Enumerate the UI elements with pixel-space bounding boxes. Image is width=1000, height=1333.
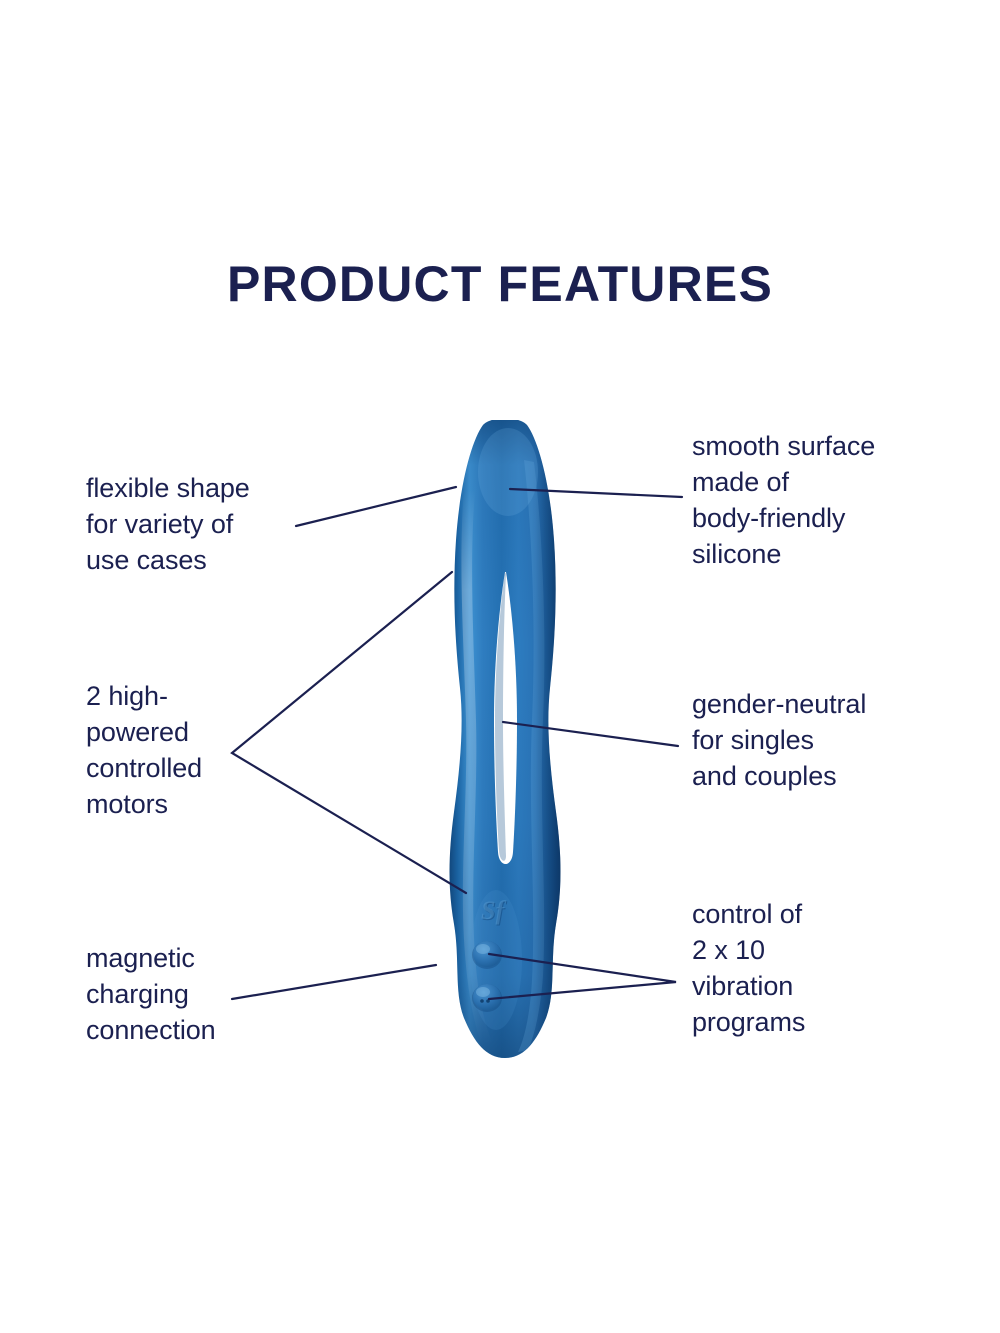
page-title: PRODUCT FEATURES: [0, 258, 1000, 311]
callout-smooth-surface: smooth surface made of body-friendly sil…: [692, 428, 875, 572]
callout-line: 2 high-: [86, 678, 202, 714]
product-illustration: Sf Sf: [420, 420, 590, 1065]
callout-line: and couples: [692, 758, 866, 794]
callout-line: programs: [692, 1004, 805, 1040]
callout-line: use cases: [86, 542, 250, 578]
callout-line: 2 x 10: [692, 932, 805, 968]
product-features-infographic: PRODUCT FEATURES: [0, 0, 1000, 1333]
callout-gender-neutral: gender-neutral for singles and couples: [692, 686, 866, 794]
callout-line: for singles: [692, 722, 866, 758]
callout-line: motors: [86, 786, 202, 822]
callout-line: flexible shape: [86, 470, 250, 506]
callout-line: control of: [692, 896, 805, 932]
callout-line: gender-neutral: [692, 686, 866, 722]
callout-line: controlled: [86, 750, 202, 786]
callout-line: silicone: [692, 536, 875, 572]
leader-line-magnetic-charging: [232, 965, 436, 999]
callout-line: body-friendly: [692, 500, 875, 536]
callout-high-powered-motors: 2 high- powered controlled motors: [86, 678, 202, 822]
callout-line: vibration: [692, 968, 805, 1004]
brand-logo: Sf Sf: [481, 896, 507, 926]
callout-vibration-programs: control of 2 x 10 vibration programs: [692, 896, 805, 1040]
callout-line: powered: [86, 714, 202, 750]
callout-line: magnetic: [86, 940, 216, 976]
callout-line: made of: [692, 464, 875, 500]
product-image: Sf Sf: [420, 420, 590, 1065]
callout-line: connection: [86, 1012, 216, 1048]
callout-line: smooth surface: [692, 428, 875, 464]
callout-magnetic-charging: magnetic charging connection: [86, 940, 216, 1048]
callout-flexible-shape: flexible shape for variety of use cases: [86, 470, 250, 578]
svg-text:Sf: Sf: [481, 896, 506, 925]
callout-line: for variety of: [86, 506, 250, 542]
control-button-upper[interactable]: [472, 941, 502, 969]
callout-line: charging: [86, 976, 216, 1012]
control-button-lower[interactable]: [472, 984, 502, 1012]
